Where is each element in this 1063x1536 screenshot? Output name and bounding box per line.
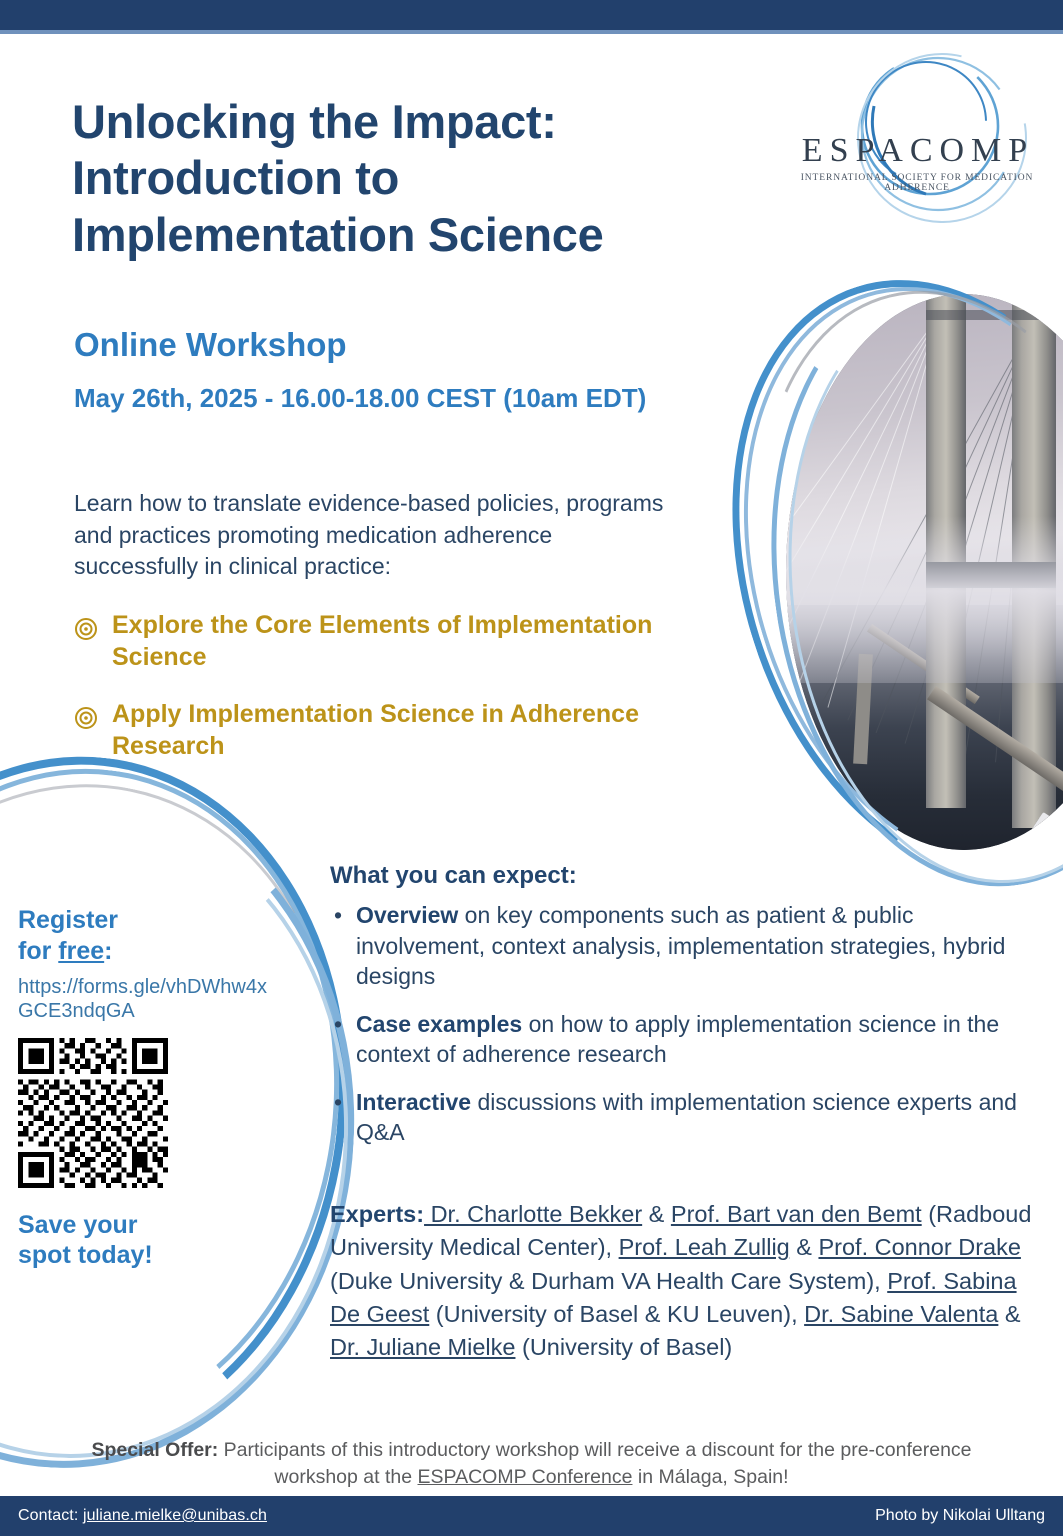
save-spot-line-2: spot today! [18, 1240, 268, 1271]
goal-item: Explore the Core Elements of Implementat… [74, 610, 694, 673]
list-item: •Overview on key components such as pati… [330, 900, 1042, 992]
expert-affiliation: (University of Basel & KU Leuven), [429, 1301, 804, 1327]
what-to-expect-heading: What you can expect: [330, 862, 1042, 890]
lead-paragraph: Learn how to translate evidence-based po… [74, 488, 674, 583]
special-offer-label: Special Offer: [91, 1439, 218, 1461]
expert-name: Dr. Sabine Valenta [804, 1301, 998, 1327]
contact-email-link[interactable]: juliane.mielke@unibas.ch [83, 1507, 267, 1524]
photo-credit: Photo by Nikolai Ulltang [875, 1507, 1045, 1525]
special-offer-note: Special Offer: Participants of this intr… [50, 1437, 1013, 1492]
register-url[interactable]: https://forms.gle/vhDWhw4xGCE3ndqGA [18, 975, 268, 1024]
register-heading: Register for free: [18, 905, 268, 966]
qr-code[interactable] [18, 1038, 168, 1188]
expect-item-lead: Case examples [356, 1011, 522, 1037]
bridge-photo-oval [744, 272, 1063, 872]
title-line-3: Implementation Science [72, 207, 722, 263]
expert-affiliation: (Duke University & Durham VA Health Care… [330, 1268, 887, 1294]
page-title: Unlocking the Impact: Introduction to Im… [72, 94, 722, 263]
expert-name: Dr. Charlotte Bekker [424, 1201, 642, 1227]
experts-names: Dr. Charlotte Bekker & Prof. Bart van de… [330, 1201, 1031, 1360]
special-offer-text-after: in Málaga, Spain! [632, 1466, 788, 1488]
poster-root: ESPACOMP INTERNATIONAL SOCIETY FOR MEDIC… [0, 0, 1063, 1536]
bullet-icon: • [334, 1087, 342, 1118]
expect-item-lead: Overview [356, 902, 458, 928]
register-heading-line-1: Register [18, 905, 268, 936]
title-line-1: Unlocking the Impact: [72, 94, 722, 150]
register-panel: Register for free: https://forms.gle/vhD… [18, 905, 268, 1271]
expert-name: Dr. Juliane Mielke [330, 1334, 515, 1360]
goal-item: Apply Implementation Science in Adherenc… [74, 699, 694, 762]
save-spot-callout: Save your spot today! [18, 1210, 268, 1271]
bottom-accent-bar: Contact: juliane.mielke@unibas.ch Photo … [0, 1496, 1063, 1536]
goal-text: Apply Implementation Science in Adherenc… [112, 699, 694, 762]
list-item: •Case examples on how to apply implement… [330, 1009, 1042, 1070]
event-datetime: May 26th, 2025 - 16.00-18.00 CEST (10am … [74, 383, 794, 414]
expert-affiliation: & [642, 1201, 671, 1227]
espacomp-logo: ESPACOMP INTERNATIONAL SOCIETY FOR MEDIC… [770, 48, 1055, 223]
experts-label: Experts: [330, 1201, 424, 1227]
experts-paragraph: Experts: Dr. Charlotte Bekker & Prof. Ba… [330, 1198, 1045, 1365]
contact-label: Contact: [18, 1507, 83, 1524]
top-accent-bar [0, 0, 1063, 30]
title-line-2: Introduction to [72, 150, 722, 206]
top-accent-underline [0, 30, 1063, 34]
event-subtitle: Online Workshop [74, 326, 724, 364]
logo-tagline: INTERNATIONAL SOCIETY FOR MEDICATION ADH… [778, 173, 1056, 193]
list-item: •Interactive discussions with implementa… [330, 1087, 1042, 1148]
target-icon [74, 706, 98, 735]
register-heading-line-2: for free: [18, 936, 268, 967]
bullet-icon: • [334, 1009, 342, 1040]
expert-name: Prof. Bart van den Bemt [671, 1201, 922, 1227]
espacomp-conference-link[interactable]: ESPACOMP Conference [418, 1466, 633, 1488]
expert-affiliation: (University of Basel) [515, 1334, 732, 1360]
expect-list: •Overview on key components such as pati… [330, 900, 1042, 1148]
goal-text: Explore the Core Elements of Implementat… [112, 610, 694, 673]
expect-item-lead: Interactive [356, 1089, 471, 1115]
bullet-icon: • [334, 900, 342, 931]
expert-affiliation: & [790, 1234, 819, 1260]
save-spot-line-1: Save your [18, 1210, 268, 1241]
target-icon [74, 617, 98, 646]
logo-wordmark: ESPACOMP [784, 132, 1052, 170]
contact-line: Contact: juliane.mielke@unibas.ch [18, 1507, 267, 1525]
expert-affiliation: & [998, 1301, 1020, 1327]
what-to-expect-section: What you can expect: •Overview on key co… [330, 862, 1042, 1165]
expert-name: Prof. Leah Zullig [619, 1234, 790, 1260]
expert-name: Prof. Connor Drake [818, 1234, 1020, 1260]
goals-list: Explore the Core Elements of Implementat… [74, 610, 694, 788]
